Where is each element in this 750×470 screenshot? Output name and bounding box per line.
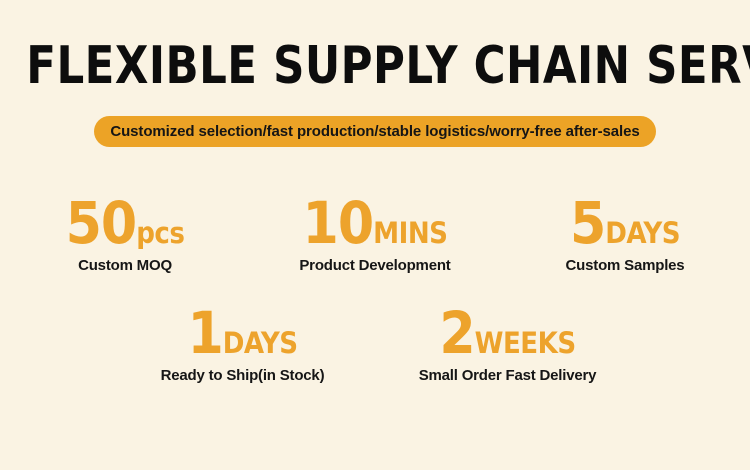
- stat-unit: pcs: [136, 216, 184, 250]
- stat-number: 1: [187, 299, 222, 367]
- stat-unit: WEEKS: [475, 326, 576, 360]
- stat-custom-samples: 5DAYS Custom Samples: [500, 192, 750, 276]
- stat-value: 1DAYS: [110, 302, 375, 364]
- stats-row-top: 50pcs Custom MOQ 10MINS Product Developm…: [0, 192, 750, 276]
- page-title: FLEXIBLE SUPPLY CHAIN SERVICE: [26, 38, 724, 94]
- stat-value: 5DAYS: [500, 192, 750, 254]
- stat-label: Ready to Ship(in Stock): [110, 366, 375, 386]
- stat-number: 5: [570, 189, 605, 257]
- stat-label: Small Order Fast Delivery: [375, 366, 640, 386]
- stat-custom-moq: 50pcs Custom MOQ: [0, 192, 250, 276]
- stat-label: Custom Samples: [500, 256, 750, 276]
- stat-unit: DAYS: [605, 216, 680, 250]
- stat-value: 50pcs: [0, 192, 250, 254]
- stat-label: Product Development: [250, 256, 500, 276]
- stat-unit: DAYS: [223, 326, 298, 360]
- stat-small-order-fast-delivery: 2WEEKS Small Order Fast Delivery: [375, 302, 640, 386]
- tagline-pill: Customized selection/fast production/sta…: [94, 116, 655, 147]
- stat-value: 2WEEKS: [375, 302, 640, 364]
- stat-label: Custom MOQ: [0, 256, 250, 276]
- tagline-row: Customized selection/fast production/sta…: [0, 116, 750, 147]
- stat-ready-to-ship: 1DAYS Ready to Ship(in Stock): [110, 302, 375, 386]
- stat-number: 50: [66, 189, 137, 257]
- stat-number: 2: [439, 299, 474, 367]
- supply-chain-service-banner: FLEXIBLE SUPPLY CHAIN SERVICE Customized…: [0, 0, 750, 470]
- stat-unit: MINS: [373, 216, 447, 250]
- stats-row-bottom: 1DAYS Ready to Ship(in Stock) 2WEEKS Sma…: [0, 302, 750, 386]
- stat-product-development: 10MINS Product Development: [250, 192, 500, 276]
- stat-value: 10MINS: [250, 192, 500, 254]
- stat-number: 10: [303, 189, 374, 257]
